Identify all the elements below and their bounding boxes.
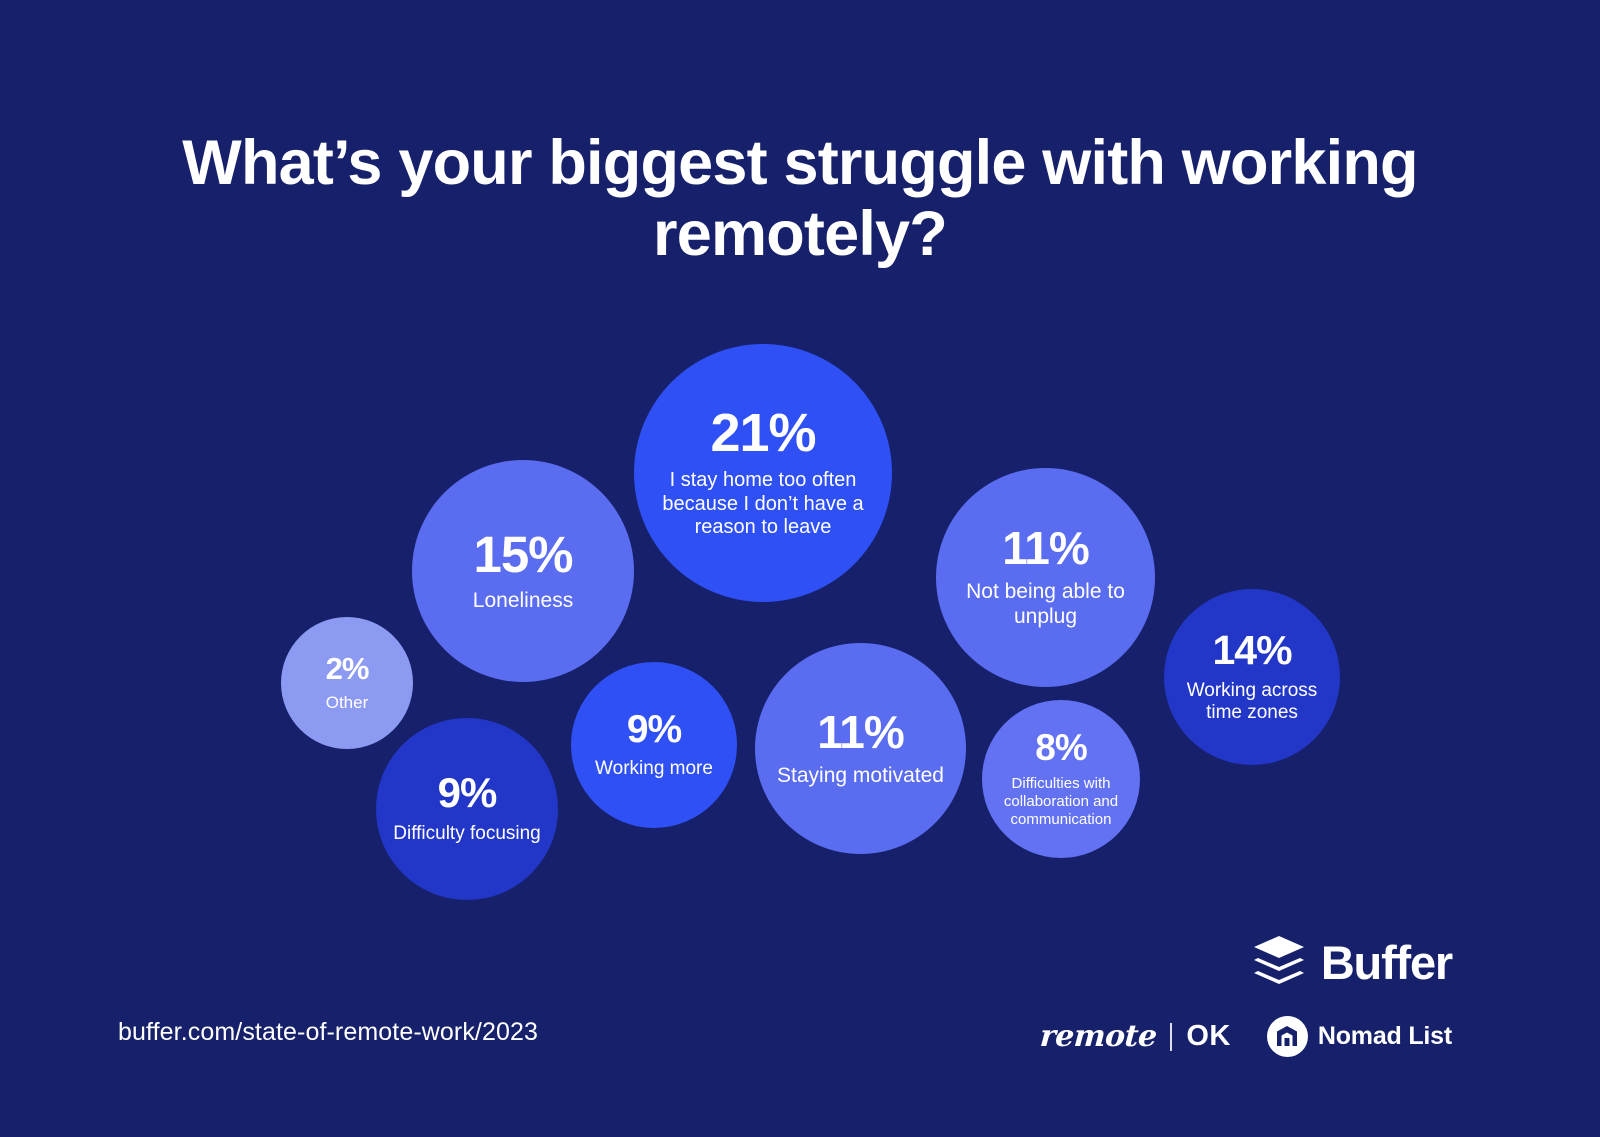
bubble-percent: 14%: [1212, 630, 1291, 671]
partner-divider: [1170, 1023, 1172, 1051]
buffer-wordmark: Buffer: [1321, 935, 1452, 990]
buffer-stack-icon: [1253, 935, 1305, 990]
partner-logos: remote OK Nomad List: [1040, 1016, 1452, 1057]
bubble-label: Difficulties with collaboration and comm…: [995, 775, 1128, 828]
bubble-unplug: 11%Not being able to unplug: [936, 468, 1155, 687]
bubble-focusing: 9%Difficulty focusing: [376, 718, 558, 900]
bubble-percent: 21%: [710, 406, 815, 460]
bubble-stay-home: 21%I stay home too often because I don’t…: [634, 344, 892, 602]
bubble-label: Loneliness: [473, 589, 573, 614]
bubble-label: Staying motivated: [777, 764, 944, 789]
bubble-percent: 11%: [817, 709, 904, 755]
bubble-label: Working across time zones: [1178, 680, 1326, 725]
remoteok-ok-label: OK: [1186, 1020, 1231, 1053]
nomadlist-mark-icon: [1267, 1016, 1308, 1057]
page-title: What’s your biggest struggle with workin…: [0, 128, 1600, 269]
bubble-motivated: 11%Staying motivated: [755, 643, 966, 854]
bubble-percent: 15%: [473, 529, 572, 580]
bubble-collaboration: 8%Difficulties with collaboration and co…: [982, 700, 1140, 858]
bubble-percent: 9%: [438, 772, 497, 814]
infographic-canvas: What’s your biggest struggle with workin…: [0, 0, 1600, 1137]
source-url[interactable]: buffer.com/state-of-remote-work/2023: [118, 1018, 538, 1047]
bubble-working-more: 9%Working more: [571, 662, 737, 828]
bubble-label: I stay home too often because I don’t ha…: [655, 469, 872, 540]
bubble-other: 2%Other: [281, 617, 413, 749]
bubble-label: Difficulty focusing: [393, 823, 541, 845]
nomadlist-logo: Nomad List: [1267, 1016, 1452, 1057]
bubble-percent: 9%: [627, 710, 681, 749]
bubble-label: Working more: [595, 758, 713, 780]
nomadlist-wordmark: Nomad List: [1318, 1022, 1452, 1051]
bubble-time-zones: 14%Working across time zones: [1164, 589, 1340, 765]
bubble-label: Not being able to unplug: [954, 580, 1138, 630]
bubble-loneliness: 15%Loneliness: [412, 460, 634, 682]
bubble-percent: 8%: [1035, 729, 1086, 766]
buffer-logo: Buffer: [1253, 935, 1452, 990]
bubble-percent: 2%: [326, 653, 369, 684]
remoteok-wordmark: remote: [1039, 1019, 1158, 1054]
bubble-label: Other: [326, 693, 369, 713]
bubble-percent: 11%: [1002, 525, 1089, 571]
